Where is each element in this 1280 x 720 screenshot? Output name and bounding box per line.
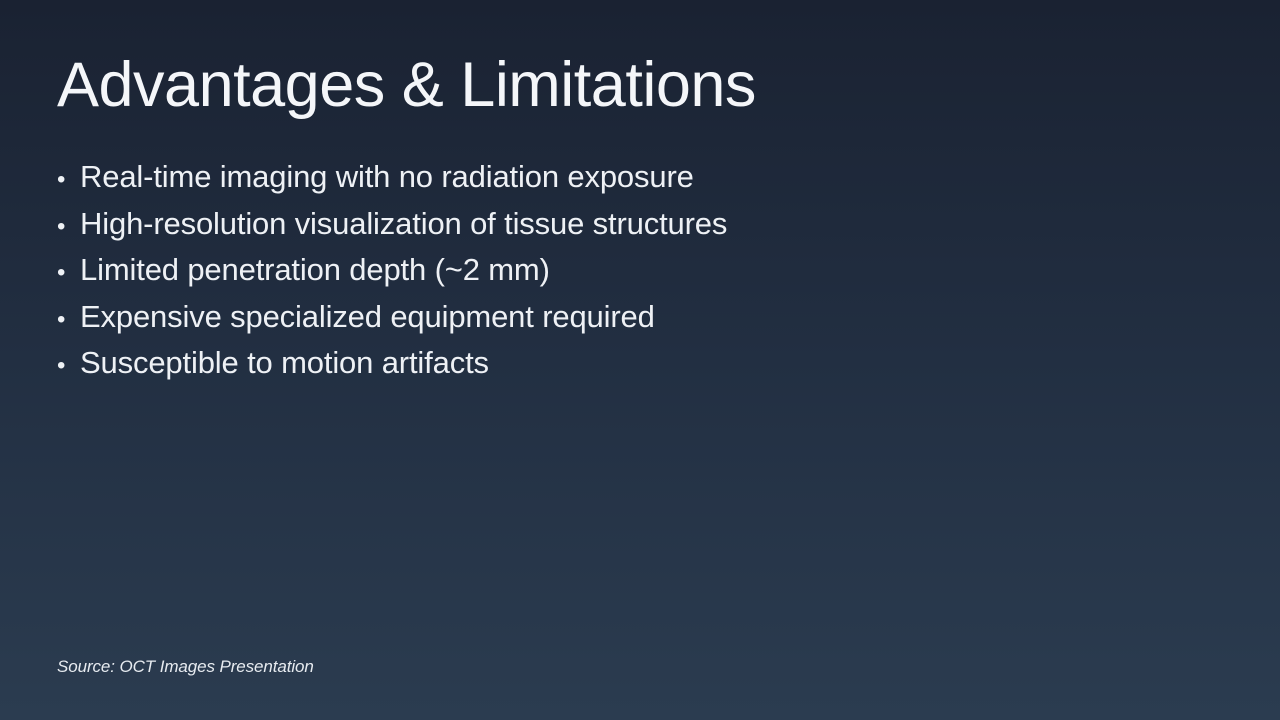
list-item: • Limited penetration depth (~2 mm) (57, 247, 1157, 294)
bullet-point-icon: • (57, 157, 80, 204)
bullet-point-icon: • (57, 297, 80, 344)
list-item: • Susceptible to motion artifacts (57, 340, 1157, 387)
page-title: Advantages & Limitations (57, 50, 756, 121)
list-item-label: Limited penetration depth (~2 mm) (80, 247, 550, 294)
bullet-point-icon: • (57, 204, 80, 251)
bullet-point-icon: • (57, 343, 80, 390)
bullet-point-icon: • (57, 250, 80, 297)
list-item-label: Expensive specialized equipment required (80, 294, 655, 341)
list-item: • Expensive specialized equipment requir… (57, 294, 1157, 341)
list-item-label: High-resolution visualization of tissue … (80, 201, 727, 248)
source-attribution: Source: OCT Images Presentation (57, 657, 314, 677)
list-item: • High-resolution visualization of tissu… (57, 201, 1157, 248)
list-item-label: Real-time imaging with no radiation expo… (80, 154, 694, 201)
list-item: • Real-time imaging with no radiation ex… (57, 154, 1157, 201)
list-item-label: Susceptible to motion artifacts (80, 340, 489, 387)
presentation-slide: Advantages & Limitations • Real-time ima… (0, 0, 1280, 720)
bullet-list: • Real-time imaging with no radiation ex… (57, 154, 1157, 387)
